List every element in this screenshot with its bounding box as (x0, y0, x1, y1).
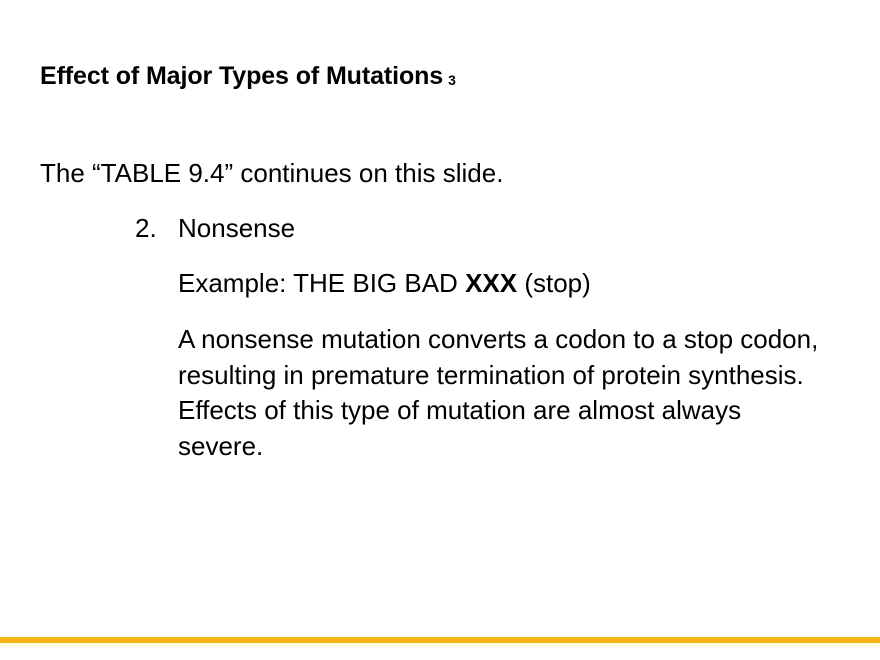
list-item-label: Nonsense (178, 211, 295, 245)
slide-canvas: Effect of Major Types of Mutations3 The … (0, 0, 880, 660)
description-paragraph: A nonsense mutation converts a codon to … (178, 322, 828, 464)
example-emphasis: XXX (465, 268, 517, 298)
page-title-text: Effect of Major Types of Mutations (40, 62, 443, 90)
page-title-superscript: 3 (448, 72, 456, 88)
bottom-accent-rule-glow (0, 643, 880, 646)
example-line: Example: THE BIG BAD XXX (stop) (178, 266, 591, 300)
list-item-marker: 2. (135, 211, 178, 245)
example-prefix: Example: THE BIG BAD (178, 268, 465, 298)
intro-text: The “TABLE 9.4” continues on this slide. (40, 156, 503, 190)
list-item: 2.Nonsense (135, 211, 295, 245)
example-suffix: (stop) (517, 268, 591, 298)
page-title: Effect of Major Types of Mutations3 (40, 61, 456, 94)
